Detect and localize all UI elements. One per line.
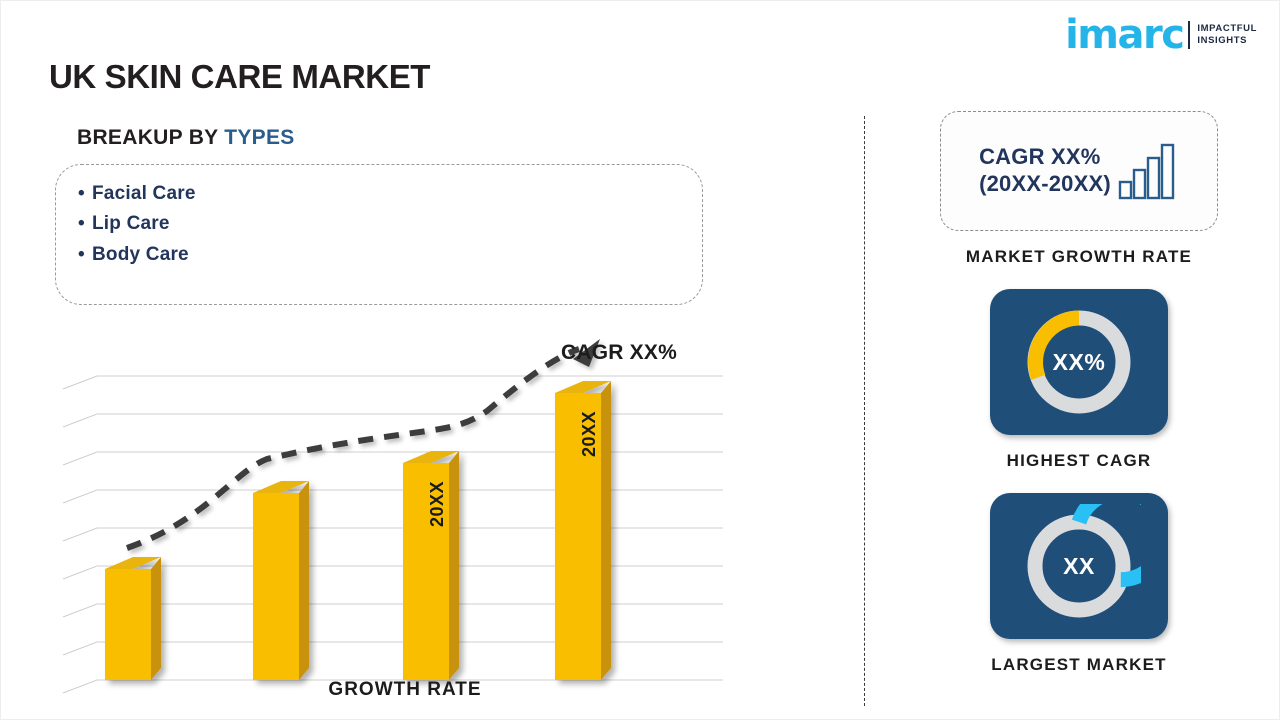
largest-market-block: XX LARGEST MARKET — [901, 493, 1257, 675]
logo-divider — [1188, 21, 1190, 49]
logo-tagline: IMPACTFUL INSIGHTS — [1197, 23, 1257, 47]
bar-label-4: 20XX — [579, 411, 600, 457]
cagr-line-1: CAGR XX% — [979, 144, 1111, 171]
highest-cagr-block: XX% HIGHEST CAGR — [901, 289, 1257, 471]
list-item: •Body Care — [78, 240, 702, 270]
breakup-heading-highlight: TYPES — [224, 126, 294, 149]
cagr-line-2: (20XX-20XX) — [979, 171, 1111, 198]
chart-cagr-label: CAGR XX% — [561, 341, 677, 365]
bar-2 — [253, 481, 309, 680]
list-item-label: Body Care — [92, 244, 189, 265]
donut-value-largest-market: XX — [990, 493, 1168, 639]
trend-line — [127, 339, 600, 548]
chart-gridlines — [63, 376, 723, 655]
list-item-label: Facial Care — [92, 183, 196, 204]
largest-market-card: XX — [990, 493, 1168, 639]
bullet-icon: • — [78, 209, 92, 239]
market-growth-rate-box: CAGR XX% (20XX-20XX) — [940, 111, 1218, 231]
metrics-panel: CAGR XX% (20XX-20XX) MARKET GROWTH RATE … — [901, 111, 1257, 675]
growth-rate-bar-chart: 20XX 20XX — [55, 331, 755, 711]
highest-cagr-caption: HIGHEST CAGR — [901, 451, 1257, 471]
page-title: UK SKIN CARE MARKET — [49, 58, 430, 96]
breakup-heading: BREAKUP BY TYPES — [77, 126, 295, 150]
logo-wordmark: imarc — [1065, 15, 1183, 55]
breakup-heading-prefix: BREAKUP BY — [77, 126, 224, 149]
logo-tagline-line-1: IMPACTFUL — [1197, 23, 1257, 35]
panel-divider — [864, 116, 865, 706]
largest-market-caption: LARGEST MARKET — [901, 655, 1257, 675]
bullet-icon: • — [78, 179, 92, 209]
list-item-label: Lip Care — [92, 213, 170, 234]
infographic-page: imarc IMPACTFUL INSIGHTS UK SKIN CARE MA… — [0, 0, 1280, 720]
imarc-logo: imarc IMPACTFUL INSIGHTS — [1065, 15, 1257, 55]
bar-chart-icon — [1117, 140, 1179, 202]
list-item: •Lip Care — [78, 209, 702, 239]
chart-x-axis-label: GROWTH RATE — [55, 679, 755, 701]
highest-cagr-card: XX% — [990, 289, 1168, 435]
bar-label-3: 20XX — [427, 481, 448, 527]
logo-tagline-line-2: INSIGHTS — [1197, 35, 1257, 47]
donut-value-highest-cagr: XX% — [990, 289, 1168, 435]
bar-1 — [105, 557, 161, 680]
bullet-icon: • — [78, 240, 92, 270]
types-list: •Facial Care •Lip Care •Body Care — [56, 165, 702, 270]
breakup-types-box: •Facial Care •Lip Care •Body Care — [55, 164, 703, 305]
cagr-text: CAGR XX% (20XX-20XX) — [979, 144, 1111, 198]
list-item: •Facial Care — [78, 179, 702, 209]
chart-svg — [55, 331, 755, 711]
market-growth-rate-caption: MARKET GROWTH RATE — [901, 247, 1257, 267]
